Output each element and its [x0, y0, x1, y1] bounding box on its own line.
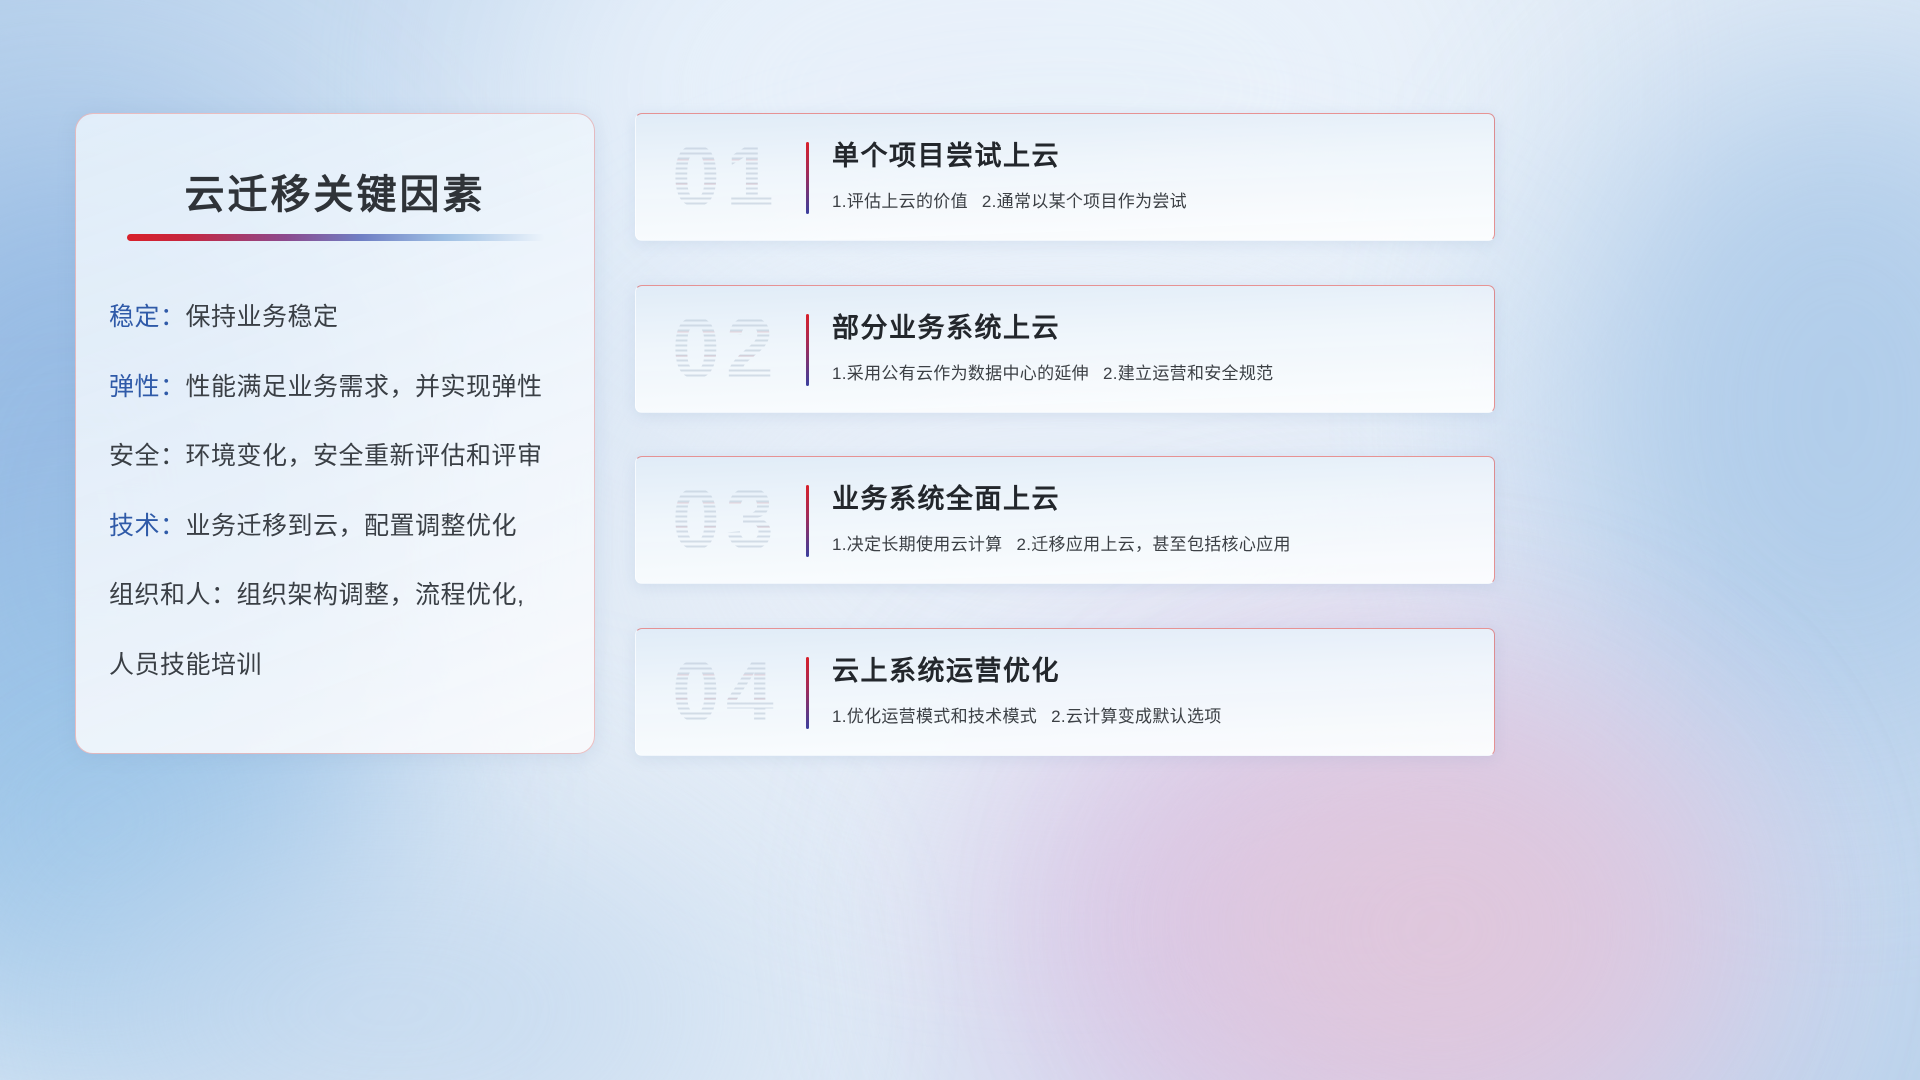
page-title: 云迁移关键因素 [76, 162, 594, 220]
title-underline-gradient [127, 234, 545, 241]
step-title: 云上系统运营优化 [832, 655, 1474, 689]
step-card[interactable]: 02 02 部分业务系统上云 1.采用公有云作为数据中心的延伸2.建立运营和安全… [635, 285, 1495, 413]
step-card[interactable]: 04 04 云上系统运营优化 1.优化运营模式和技术模式2.云计算变成默认选项 [635, 628, 1495, 756]
step-divider-bar [806, 142, 809, 214]
slide-stage: 云迁移关键因素 稳定：保持业务稳定 弹性：性能满足业务需求，并实现弹性 安全：环… [0, 0, 1920, 1080]
step-number-ghost-tint: 02 [672, 300, 780, 399]
step-point-1: 1.评估上云的价值 [832, 192, 968, 211]
list-item-text: 人员技能培训 [109, 651, 262, 679]
step-text-block: 云上系统运营优化 1.优化运营模式和技术模式2.云计算变成默认选项 [832, 655, 1474, 727]
list-item-text: 业务迁移到云，配置调整优化 [186, 512, 518, 540]
step-divider-bar [806, 657, 809, 729]
step-point-1: 1.决定长期使用云计算 [832, 535, 1002, 554]
list-item-text: 性能满足业务需求，并实现弹性 [186, 373, 543, 401]
list-item: 人员技能培训 [109, 652, 576, 680]
step-card[interactable]: 03 03 业务系统全面上云 1.决定长期使用云计算2.迁移应用上云，甚至包括核… [635, 456, 1495, 584]
key-factors-panel: 云迁移关键因素 稳定：保持业务稳定 弹性：性能满足业务需求，并实现弹性 安全：环… [75, 113, 595, 754]
step-divider-bar [806, 314, 809, 386]
step-point-1: 1.采用公有云作为数据中心的延伸 [832, 364, 1089, 383]
list-item-label: 技术： [109, 512, 186, 540]
step-title: 单个项目尝试上云 [832, 140, 1474, 174]
step-text-block: 部分业务系统上云 1.采用公有云作为数据中心的延伸2.建立运营和安全规范 [832, 312, 1474, 384]
list-item-label: 弹性： [109, 373, 186, 401]
step-points: 1.决定长期使用云计算2.迁移应用上云，甚至包括核心应用 [832, 530, 1474, 555]
step-number-ghost-tint: 04 [672, 643, 780, 742]
step-card[interactable]: 01 01 单个项目尝试上云 1.评估上云的价值2.通常以某个项目作为尝试 [635, 113, 1495, 241]
step-point-1: 1.优化运营模式和技术模式 [832, 707, 1037, 726]
list-item: 技术：业务迁移到云，配置调整优化 [109, 513, 576, 541]
list-item-label: 组织和人： [109, 581, 237, 609]
step-number-ghost-tint: 01 [672, 128, 780, 227]
step-text-block: 单个项目尝试上云 1.评估上云的价值2.通常以某个项目作为尝试 [832, 140, 1474, 212]
list-item-label: 安全： [109, 442, 186, 470]
key-factors-list: 稳定：保持业务稳定 弹性：性能满足业务需求，并实现弹性 安全：环境变化，安全重新… [109, 304, 576, 679]
list-item-text: 组织架构调整，流程优化, [237, 581, 525, 609]
list-item-text: 环境变化，安全重新评估和评审 [186, 442, 543, 470]
step-points: 1.评估上云的价值2.通常以某个项目作为尝试 [832, 187, 1474, 212]
step-number-ghost-tint: 03 [672, 471, 780, 570]
list-item-label: 稳定： [109, 303, 186, 331]
list-item: 组织和人：组织架构调整，流程优化, [109, 582, 576, 610]
step-points: 1.采用公有云作为数据中心的延伸2.建立运营和安全规范 [832, 359, 1474, 384]
step-point-2: 2.通常以某个项目作为尝试 [982, 192, 1187, 211]
step-title: 部分业务系统上云 [832, 312, 1474, 346]
list-item-text: 保持业务稳定 [186, 303, 339, 331]
step-text-block: 业务系统全面上云 1.决定长期使用云计算2.迁移应用上云，甚至包括核心应用 [832, 483, 1474, 555]
step-divider-bar [806, 485, 809, 557]
step-point-2: 2.迁移应用上云，甚至包括核心应用 [1016, 535, 1290, 554]
list-item: 弹性：性能满足业务需求，并实现弹性 [109, 374, 576, 402]
step-points: 1.优化运营模式和技术模式2.云计算变成默认选项 [832, 702, 1474, 727]
step-point-2: 2.建立运营和安全规范 [1103, 364, 1273, 383]
step-title: 业务系统全面上云 [832, 483, 1474, 517]
list-item: 安全：环境变化，安全重新评估和评审 [109, 443, 576, 471]
list-item: 稳定：保持业务稳定 [109, 304, 576, 332]
step-point-2: 2.云计算变成默认选项 [1051, 707, 1221, 726]
